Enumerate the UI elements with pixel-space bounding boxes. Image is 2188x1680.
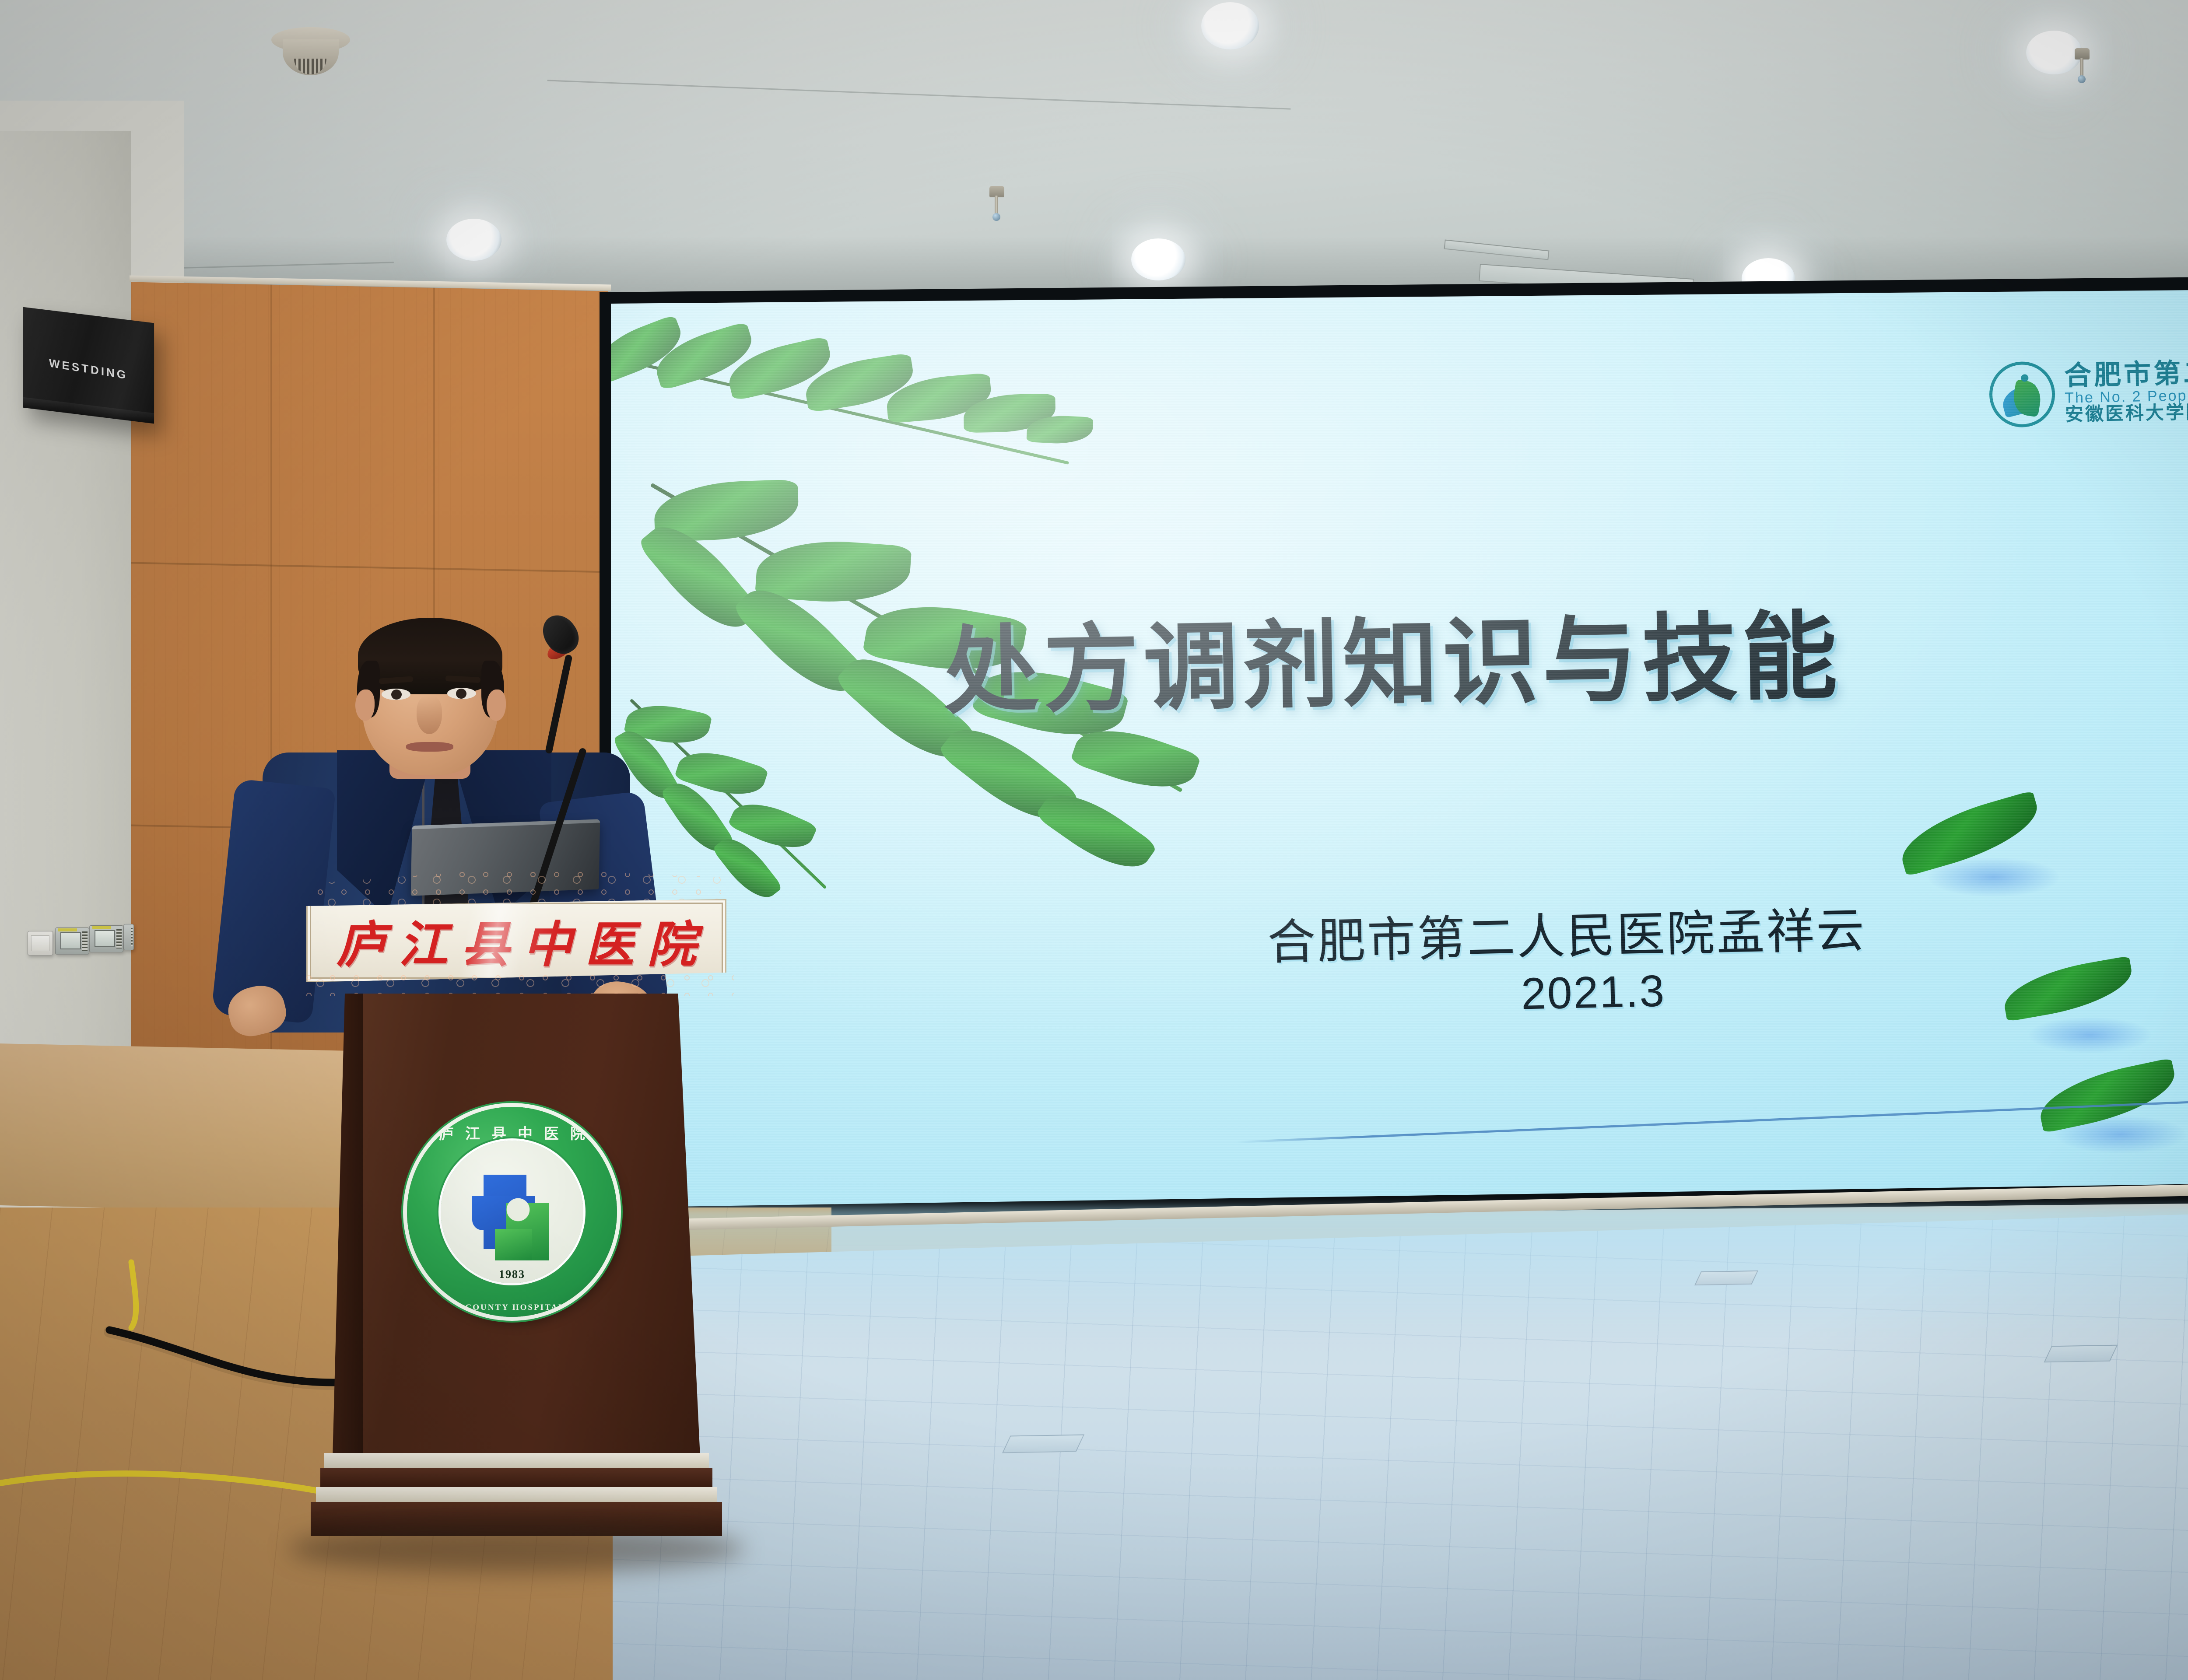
recessed-ceiling-downlight [446, 219, 501, 261]
presenter-nose [417, 696, 442, 734]
slide-presenter: 合肥市第二人民医院孟祥云 [1266, 891, 1866, 973]
recessed-ceiling-downlight [1131, 238, 1185, 280]
hospital-logo-mark [1989, 361, 2056, 428]
podium-base-stripe [316, 1487, 717, 1502]
wall-power-outlet[interactable] [55, 927, 89, 955]
hospital-logo: 合肥市第二人民医院 The No. 2 People's Hospital Of… [1989, 355, 2188, 428]
fire-sprinkler-head [987, 186, 1007, 224]
wall-power-outlet[interactable] [123, 924, 134, 950]
fire-sprinkler-head [2072, 48, 2092, 86]
wall-power-outlet[interactable] [89, 925, 123, 952]
floating-leaf-graphic [2000, 956, 2137, 1022]
podium-name-sign: 庐江县中医院 [306, 899, 726, 982]
presenter-mouth [406, 742, 453, 752]
podium-emblem: 庐江县中医院 1983 LUJIANG COUNTY HOSPITAL OF T… [407, 1107, 617, 1317]
emblem-founded-year: 1983 [407, 1268, 617, 1281]
podium-sign-text: 庐江县中医院 [308, 905, 725, 976]
wall-light-switch[interactable] [28, 931, 53, 955]
podium: 庐江县中医院 庐江县中医院 1983 LUJIANG COUNTY HOSPIT… [263, 868, 761, 1560]
podium-base-stripe [324, 1453, 709, 1468]
presenter-ear-right [487, 689, 506, 721]
slide-title: 处方调剂知识与技能 [942, 578, 1842, 732]
hospital-name-cn: 合肥市第二人民医院 [2064, 357, 2188, 390]
floor-access-panel [1694, 1270, 1758, 1285]
emblem-name-en: LUJIANG COUNTY HOSPITAL OF TCM [407, 1303, 617, 1312]
presenter-ear-left [355, 689, 375, 721]
presenter-pupil-right [456, 689, 466, 699]
podium-base-stripe [320, 1468, 712, 1487]
podium-banner-bottom [303, 972, 734, 996]
slide-date: 2021.3 [1521, 966, 1666, 1020]
presenter-pupil-left [391, 689, 402, 700]
smoke-detector [271, 27, 350, 86]
wall-mounted-loudspeaker: WESTDING [23, 307, 154, 424]
projection-screen: 合肥市第二人民医院 The No. 2 People's Hospital Of… [611, 284, 2188, 1207]
leaf-shadow [2029, 1017, 2151, 1053]
emblem-name-cn: 庐江县中医院 [407, 1122, 617, 1143]
speaker-brand-label: WESTDING [49, 356, 128, 382]
podium-body-side [333, 994, 363, 1457]
podium-shadow [289, 1525, 744, 1573]
floor-access-panel [1002, 1435, 1084, 1453]
recessed-ceiling-downlight [1201, 2, 1259, 49]
floor-screen-reflection [656, 1207, 2188, 1339]
floor-access-panel [2044, 1345, 2118, 1363]
lecture-hall-photo: WESTDING [0, 0, 2188, 1680]
